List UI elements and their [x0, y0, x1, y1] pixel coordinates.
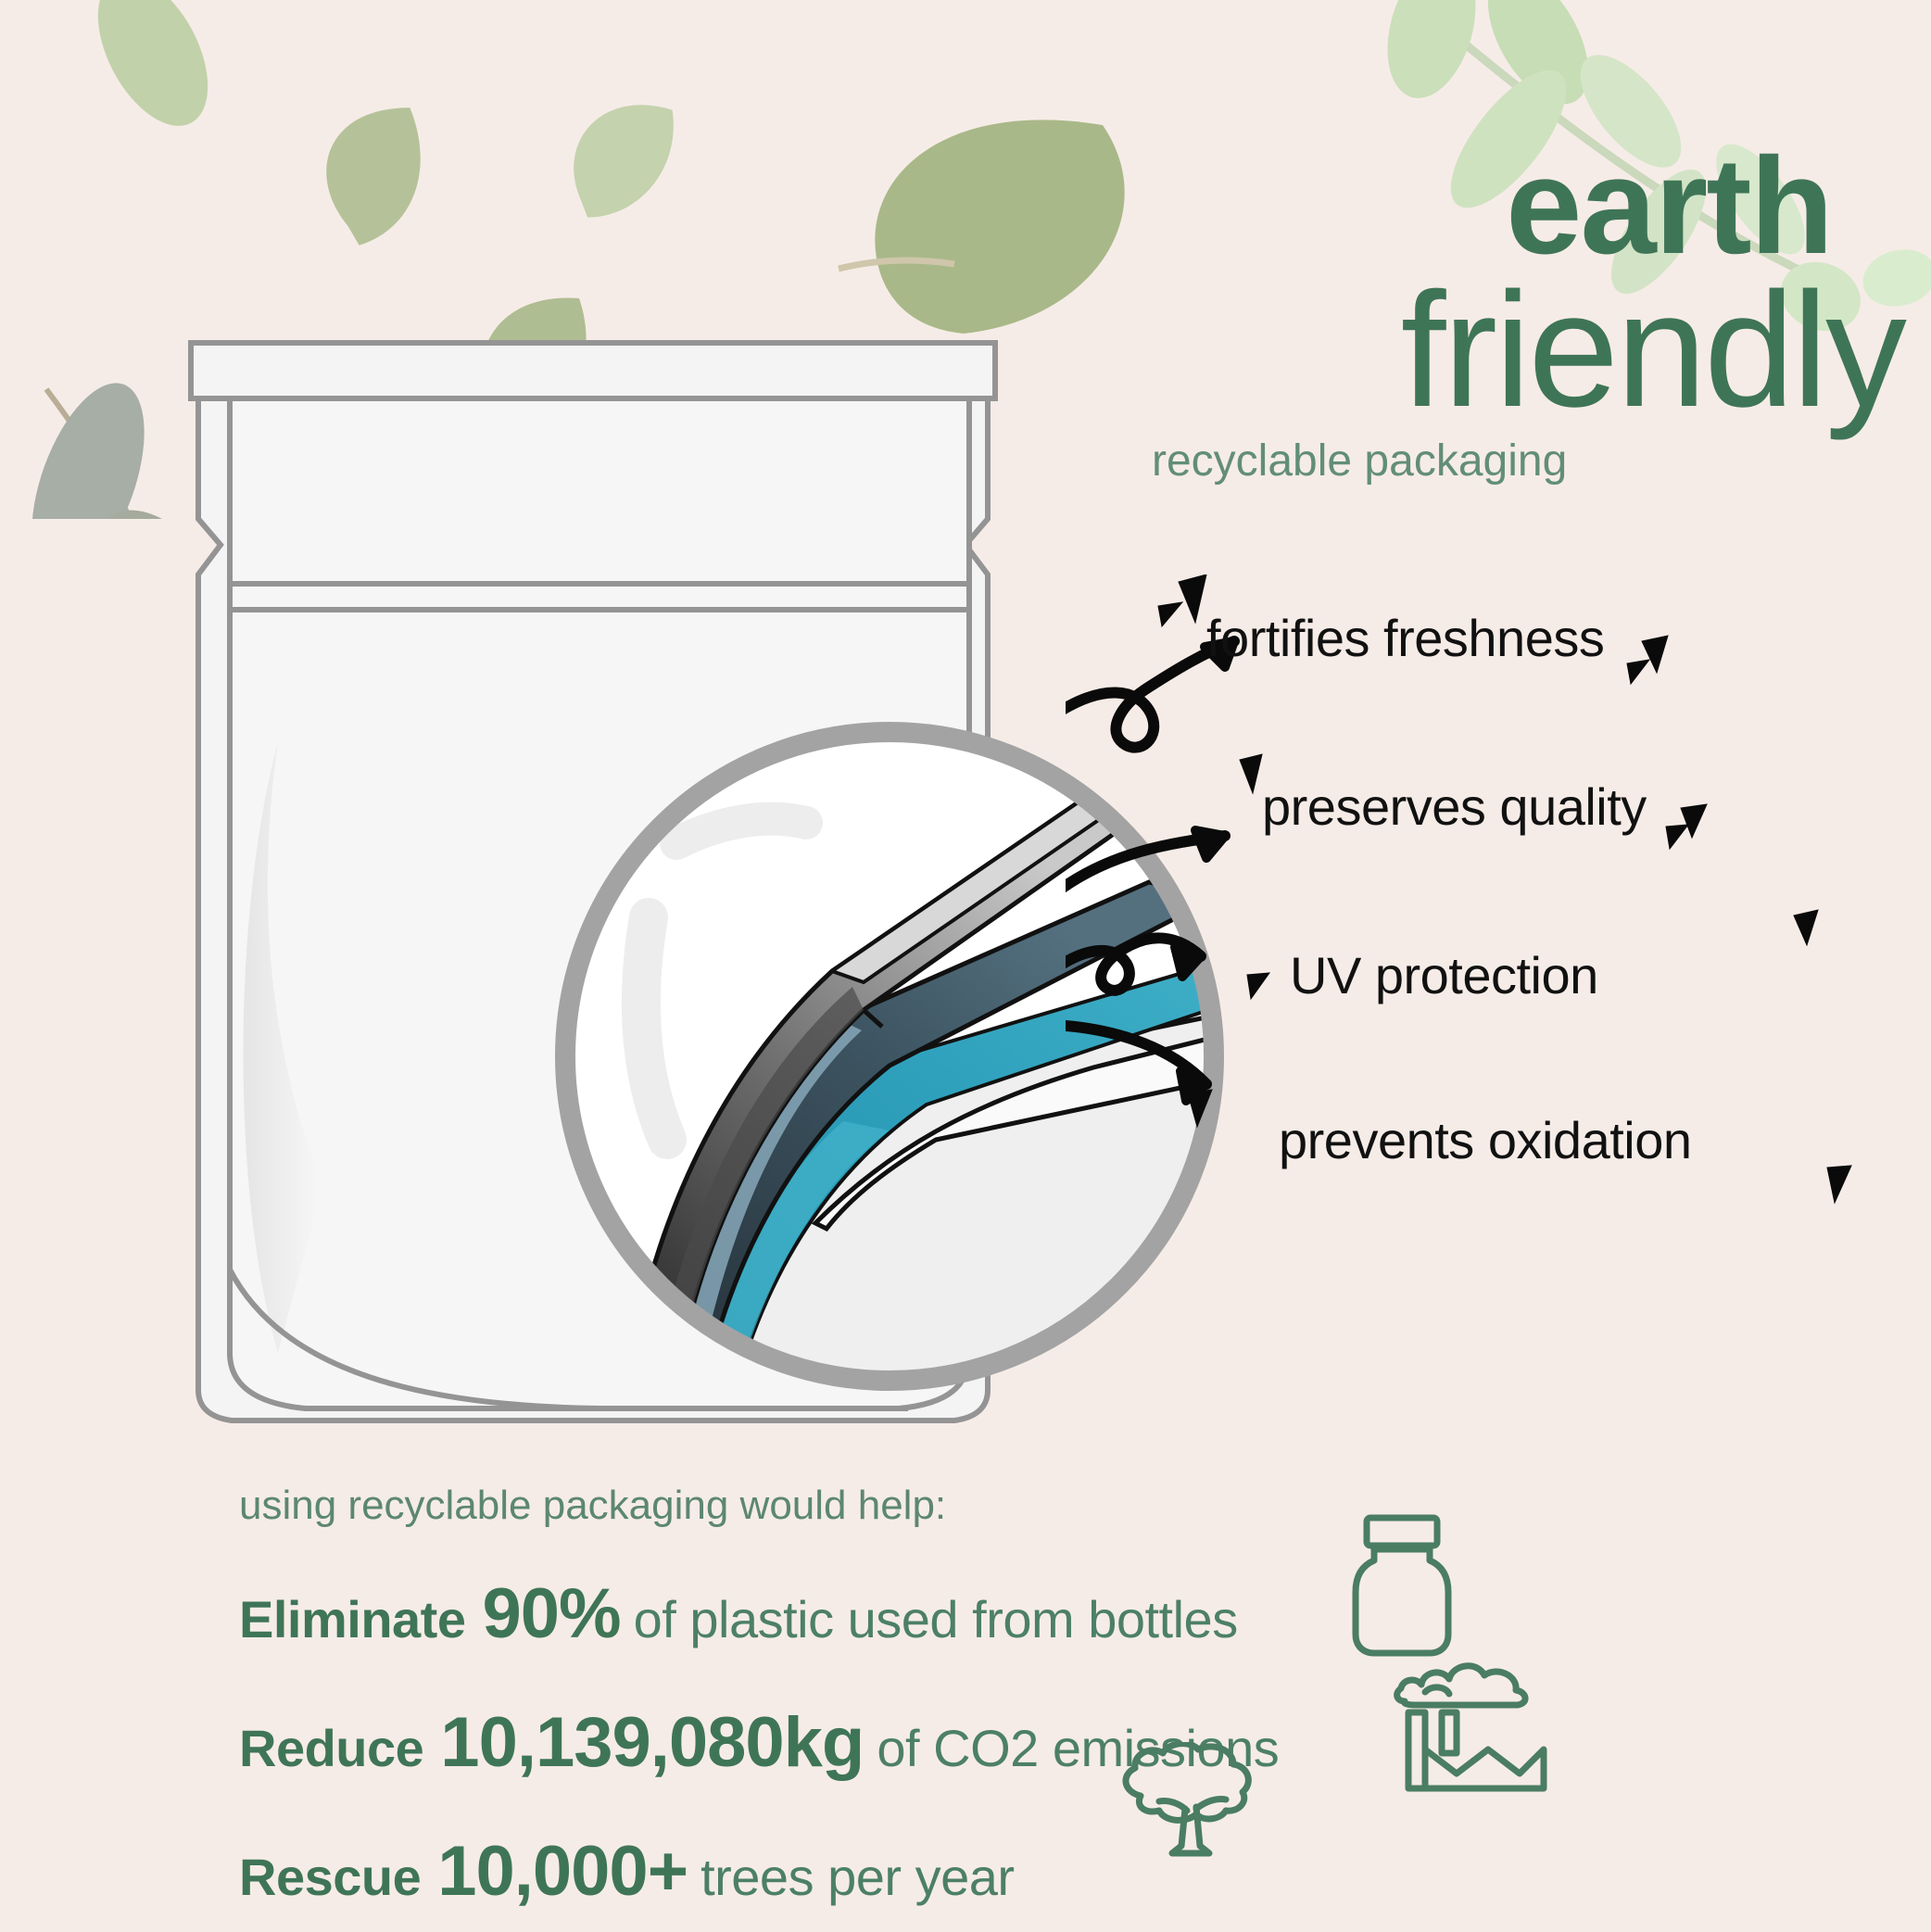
spark-icon [1794, 910, 1818, 945]
factory-icon [1388, 1648, 1564, 1796]
spark-icon [1240, 754, 1262, 793]
callout-arrows [1066, 575, 1931, 1297]
stat-row: Eliminate 90% of plastic used from bottl… [239, 1573, 1722, 1654]
headline-line-1: earth [1144, 139, 1904, 273]
tree-icon [1107, 1742, 1274, 1872]
smokestack-right [1442, 1712, 1457, 1753]
stats-intro: using recyclable packaging would help: [239, 1483, 1722, 1529]
stat-tail: of plastic used from bottles [634, 1589, 1238, 1649]
callout-label-fortifies-freshness: fortifies freshness [1206, 608, 1604, 668]
stat-verb: Rescue [239, 1847, 421, 1907]
spark-icon [1179, 575, 1206, 623]
spark-icon [1158, 602, 1182, 626]
spark-icon [1247, 973, 1269, 999]
leaf-stem [839, 260, 954, 269]
leaf-icon [1372, 0, 1491, 108]
bottle-cap [1367, 1518, 1437, 1546]
tree-trunk [1172, 1807, 1209, 1853]
leaf-icon [875, 120, 1124, 334]
tree-branch [1196, 1799, 1226, 1809]
spark-icon [1188, 1090, 1212, 1127]
tree-branch [1159, 1800, 1187, 1811]
spark-icon [1627, 660, 1649, 684]
infographic-canvas: earth friendly recyclable packaging [0, 0, 1931, 1932]
stat-verb: Eliminate [239, 1589, 465, 1649]
bottle-body [1356, 1549, 1448, 1653]
stat-row: Rescue 10,000+ trees per year [239, 1831, 1722, 1912]
spark-icon [1681, 804, 1707, 838]
smoke-cloud [1397, 1666, 1525, 1705]
callout-label-prevents-oxidation: prevents oxidation [1279, 1110, 1692, 1170]
headline-subtitle: recyclable packaging [1144, 436, 1904, 486]
leaf-icon [1468, 0, 1609, 120]
leaf-icon [75, 0, 230, 144]
spark-icon [1642, 636, 1668, 673]
stat-number: 90% [482, 1573, 620, 1654]
leaf-icon [9, 369, 168, 519]
stat-tail: trees per year [700, 1847, 1015, 1907]
stat-verb: Reduce [239, 1718, 423, 1778]
stat-number: 10,000+ [437, 1831, 688, 1912]
callout-label-preserves-quality: preserves quality [1262, 777, 1647, 837]
headline-line-2: friendly [1144, 273, 1904, 428]
stat-number: 10,139,080kg [440, 1702, 864, 1783]
pouch-top-seal [191, 343, 995, 398]
callout-group: fortifies freshness preserves quality UV… [1066, 575, 1931, 1297]
arrow-head-icon [1175, 947, 1201, 977]
smoke-wisp [1425, 1687, 1449, 1694]
callout-label-uv-protection: UV protection [1290, 945, 1598, 1005]
spark-icon [1666, 825, 1688, 849]
leaf-icon [564, 94, 677, 230]
leaf-icon [321, 107, 430, 248]
arrow-head-icon [1195, 830, 1225, 858]
spark-icon [1827, 1166, 1851, 1203]
headline-block: earth friendly recyclable packaging [1144, 139, 1904, 486]
bottle-icon [1339, 1512, 1469, 1661]
